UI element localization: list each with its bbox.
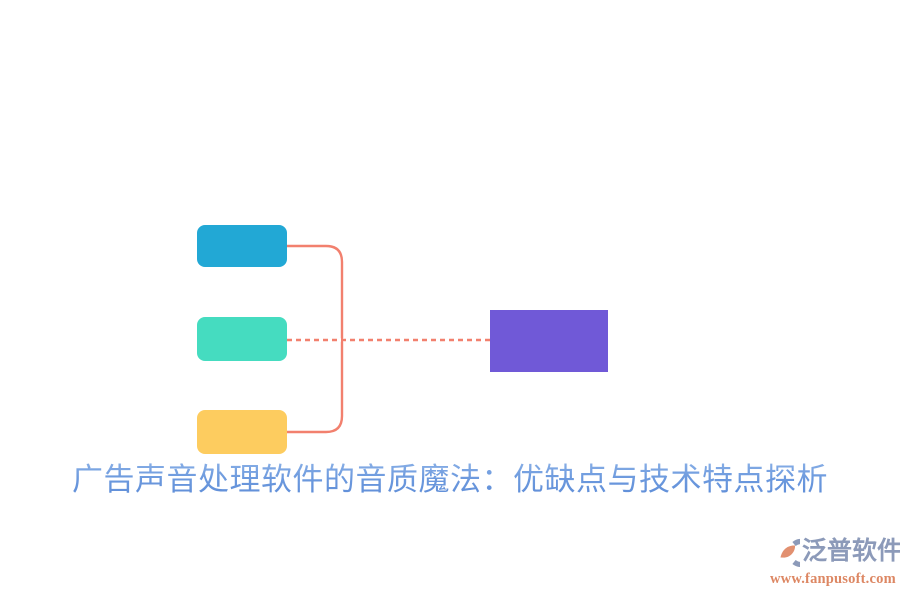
fanpu-logo-icon <box>768 537 800 567</box>
watermark-brand-row: 泛普软件 <box>768 535 894 569</box>
diagram-connectors <box>0 0 900 600</box>
watermark-url-text: www.fanpusoft.com <box>770 570 894 588</box>
diagram-node-yellow[interactable] <box>197 410 287 454</box>
diagram-node-teal[interactable] <box>197 317 287 361</box>
diagram-node-blue[interactable] <box>197 225 287 267</box>
connector-yellow-to-bus <box>287 342 342 432</box>
connector-blue-to-bus <box>287 246 342 338</box>
flow-diagram <box>0 0 900 600</box>
watermark-logo: 泛普软件 www.fanpusoft.com <box>768 535 894 591</box>
watermark-brand-text: 泛普软件 <box>802 537 900 567</box>
screenshot-canvas: 广告声音处理软件的音质魔法：优缺点与技术特点探析 泛普软件 www.fanpus… <box>0 0 900 600</box>
page-title: 广告声音处理软件的音质魔法：优缺点与技术特点探析 <box>0 458 900 502</box>
diagram-node-purple[interactable] <box>490 310 608 372</box>
